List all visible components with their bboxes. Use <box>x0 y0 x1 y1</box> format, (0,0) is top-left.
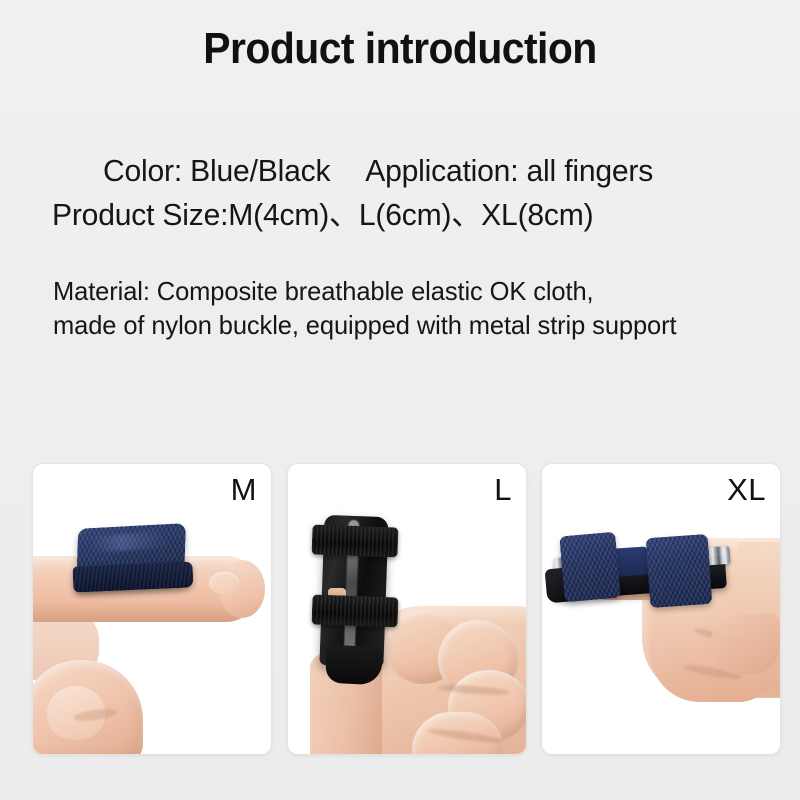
l-strap-upper <box>312 525 399 558</box>
product-card-xl[interactable]: XL <box>541 463 781 755</box>
xl-strap-left <box>559 532 621 603</box>
l-strap-lower <box>312 595 399 628</box>
spec-material-line-1: Material: Composite breathable elastic O… <box>53 274 594 309</box>
xl-thumb-web-shape <box>710 614 780 674</box>
xl-strap-right <box>646 534 713 608</box>
product-card-l[interactable]: L <box>287 463 527 755</box>
product-introduction-page: Product introduction Color: Blue/BlackAp… <box>0 0 800 800</box>
product-card-m[interactable]: M <box>32 463 272 755</box>
spec-color: Color: Blue/Black <box>103 153 330 188</box>
m-fingernail-shape <box>209 572 239 594</box>
product-size-card-row: M L <box>0 463 800 755</box>
size-label-l: L <box>494 472 512 508</box>
spec-application: Application: all fingers <box>365 153 653 188</box>
size-label-m: M <box>231 472 257 508</box>
size-label-xl: XL <box>727 472 766 508</box>
page-title: Product introduction <box>28 22 772 76</box>
spec-product-size: Product Size:M(4cm)、L(6cm)、XL(8cm) <box>52 194 593 236</box>
product-photo-l <box>288 464 526 754</box>
m-navy-band-shape <box>72 561 193 592</box>
spec-material-line-2: made of nylon buckle, equipped with meta… <box>53 308 676 343</box>
